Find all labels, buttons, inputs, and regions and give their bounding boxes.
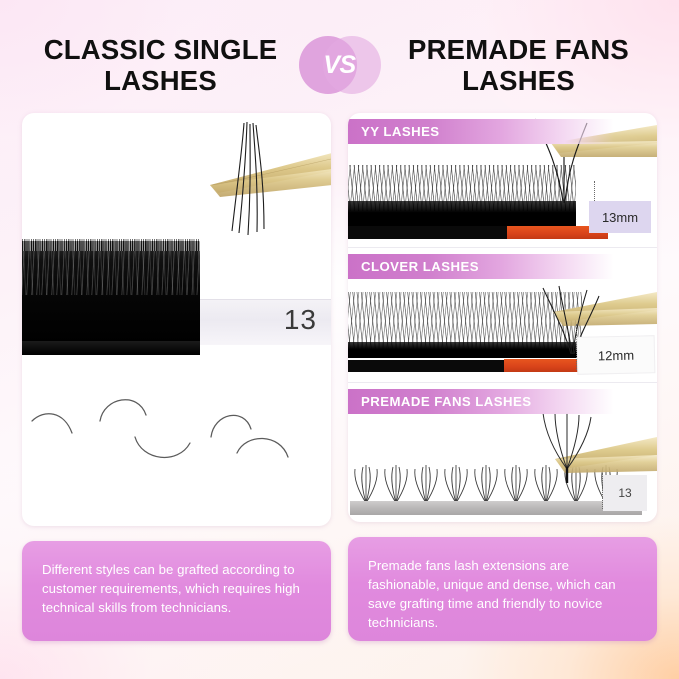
yy-lash-body (348, 201, 576, 227)
section-clover-lashes: CLOVER LASHES (348, 247, 657, 382)
header-title-right: PREMADE FANS LASHES (383, 34, 651, 97)
section-premade-fans-lashes: PREMADE FANS LASHES (348, 382, 657, 521)
section-label-premade-fans-lashes: PREMADE FANS LASHES (348, 389, 657, 414)
single-lash-strands (198, 119, 278, 239)
right-panel-caption: Premade fans lash extensions are fashion… (348, 537, 657, 641)
classic-lashes-card: 13 (22, 113, 331, 526)
section-label-clover-lashes: CLOVER LASHES (348, 254, 657, 279)
page-background: CLASSIC SINGLE LASHES VS PREMADE FANS LA… (0, 0, 679, 679)
tray-bristles (22, 239, 200, 295)
header-title-left: CLASSIC SINGLE LASHES (29, 34, 297, 97)
tray-base (22, 341, 200, 355)
clover-measurement-label: 12mm (577, 335, 656, 375)
tweezer-icon (198, 125, 331, 233)
clover-lash-strip (348, 360, 504, 372)
classic-lash-tray (22, 241, 200, 345)
yy-lash-strip (348, 226, 507, 239)
yy-measurement-label: 13mm (589, 201, 651, 233)
vs-label: VS (323, 51, 355, 80)
premade-measurement-label: 13 (603, 475, 647, 511)
section-label-yy-lashes: YY LASHES (348, 119, 657, 144)
clover-lash-body (348, 342, 582, 358)
section-yy-lashes: YY LASHES (348, 113, 657, 247)
vs-badge: VS (297, 34, 383, 96)
left-comparison-panel: 13 Different styles can be grafted accor… (22, 113, 331, 641)
lash-curve-illustrations (22, 371, 331, 511)
premade-fans-card: YY LASHES (348, 113, 657, 522)
right-comparison-panel: YY LASHES (348, 113, 657, 641)
premade-fan-strip (350, 501, 642, 515)
comparison-header: CLASSIC SINGLE LASHES VS PREMADE FANS LA… (0, 24, 679, 106)
left-panel-caption: Different styles can be grafted accordin… (22, 541, 331, 641)
premade-fan-row (350, 459, 642, 515)
tray-size-label: 13 (284, 304, 317, 336)
